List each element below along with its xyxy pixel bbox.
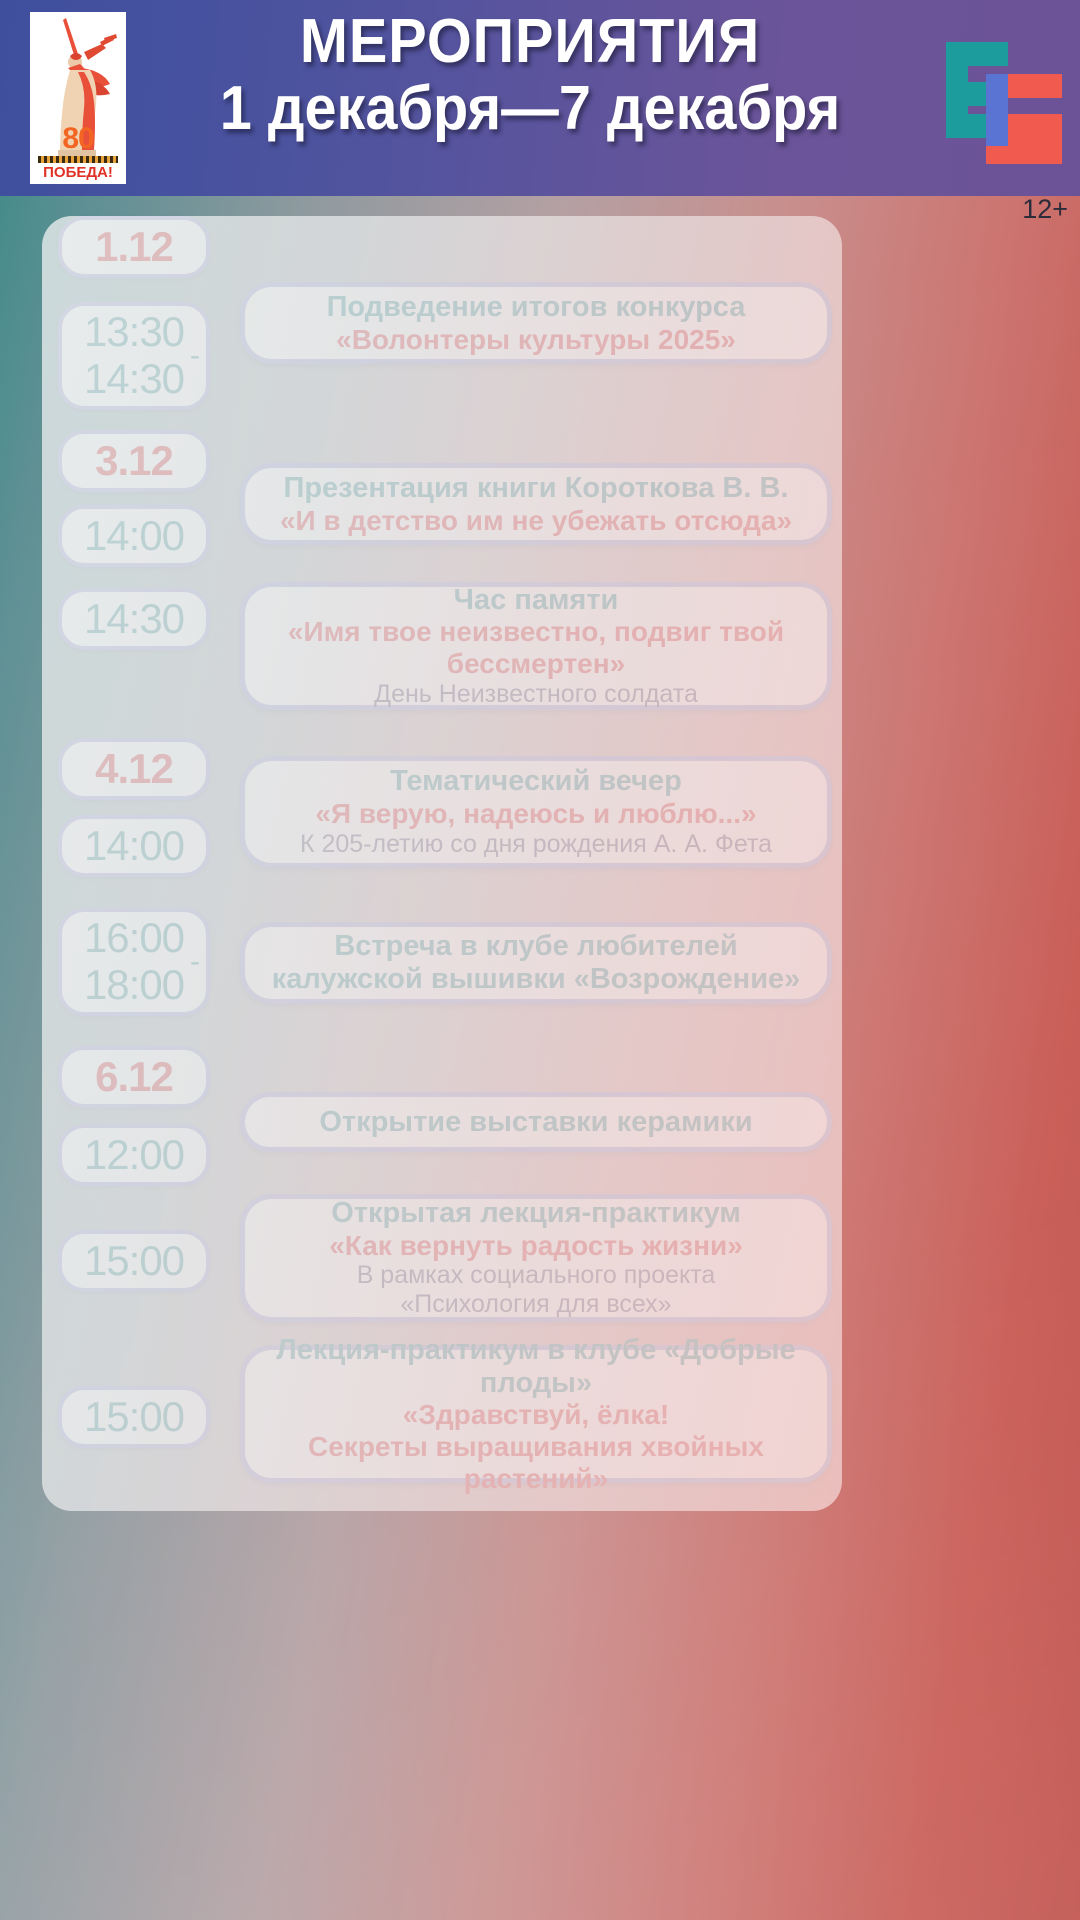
library-logo [946, 26, 1062, 168]
schedule-panel [42, 216, 842, 1511]
bb-library-logo-icon [946, 26, 1062, 168]
st-george-ribbon [38, 156, 118, 163]
victory-80-logo: 80 ПОБЕДА! [30, 12, 126, 184]
poster-header: 80 ПОБЕДА! МЕРОПРИЯТИЯ 1 декабря—7 декаб… [0, 0, 1080, 196]
poster-title: МЕРОПРИЯТИЯ 1 декабря—7 декабря [140, 6, 920, 145]
age-rating-badge: 12+ [1022, 196, 1068, 223]
title-date-range: 1 декабря—7 декабря [167, 73, 892, 144]
event-poster: 80 ПОБЕДА! МЕРОПРИЯТИЯ 1 декабря—7 декаб… [0, 0, 1080, 1920]
victory-80-number: 80 [30, 124, 126, 154]
title-main: МЕРОПРИЯТИЯ [167, 6, 892, 77]
victory-word: ПОБЕДА! [30, 165, 126, 182]
